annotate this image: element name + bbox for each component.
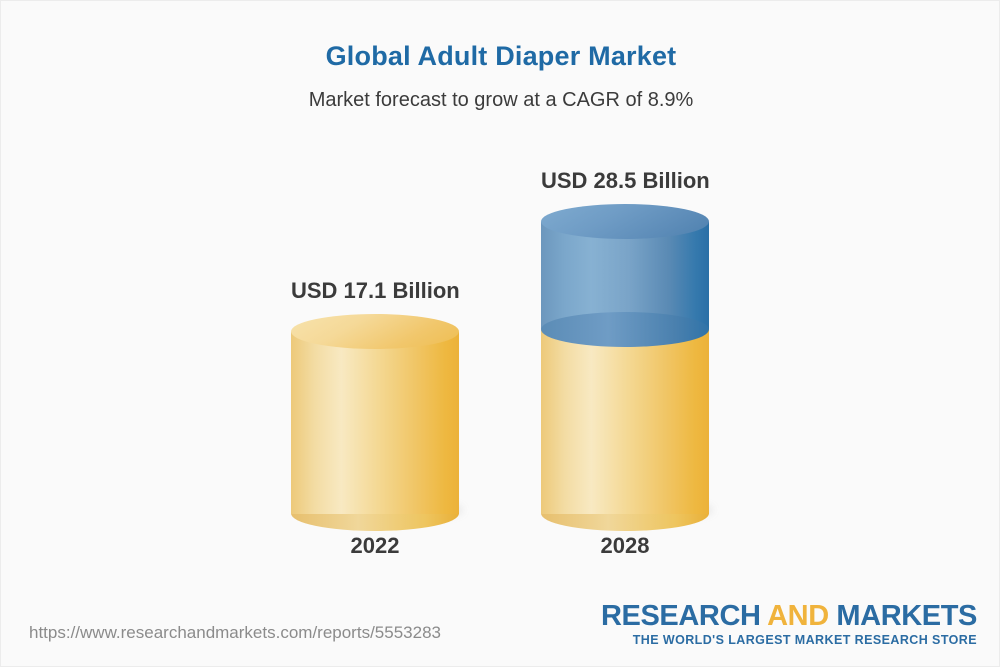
logo-tagline: THE WORLD'S LARGEST MARKET RESEARCH STOR…	[601, 633, 977, 648]
bar-group-2022: USD 17.1 Billion 2022	[291, 1, 459, 601]
cylinder-2028	[541, 204, 709, 531]
cylinder-2022	[291, 314, 459, 531]
cylinder-segment-divider-2028	[541, 312, 709, 347]
research-and-markets-logo[interactable]: RESEARCH AND MARKETS THE WORLD'S LARGEST…	[601, 601, 977, 648]
bar-category-label-2028: 2028	[541, 533, 709, 559]
bar-value-label-2028: USD 28.5 Billion	[541, 168, 709, 194]
cylinder-body-gold-2022	[291, 332, 459, 514]
logo-word-research: RESEARCH	[601, 600, 767, 632]
chart-canvas: Global Adult Diaper Market Market foreca…	[0, 0, 1000, 667]
logo-word-markets: MARKETS	[829, 600, 977, 632]
bar-category-label-2022: 2022	[291, 533, 459, 559]
bar-group-2028: USD 28.5 Billion 2028	[541, 1, 709, 601]
source-url[interactable]: https://www.researchandmarkets.com/repor…	[29, 623, 441, 643]
plot-area: USD 17.1 Billion 2022 USD 28.5 Billion	[1, 1, 1000, 601]
bar-value-label-2022: USD 17.1 Billion	[291, 278, 459, 304]
cylinder-cap-2022	[291, 314, 459, 349]
logo-word-and: AND	[767, 600, 829, 632]
logo-wordmark: RESEARCH AND MARKETS	[601, 601, 977, 631]
cylinder-body-gold-2028	[541, 329, 709, 514]
cylinder-cap-2028	[541, 204, 709, 239]
